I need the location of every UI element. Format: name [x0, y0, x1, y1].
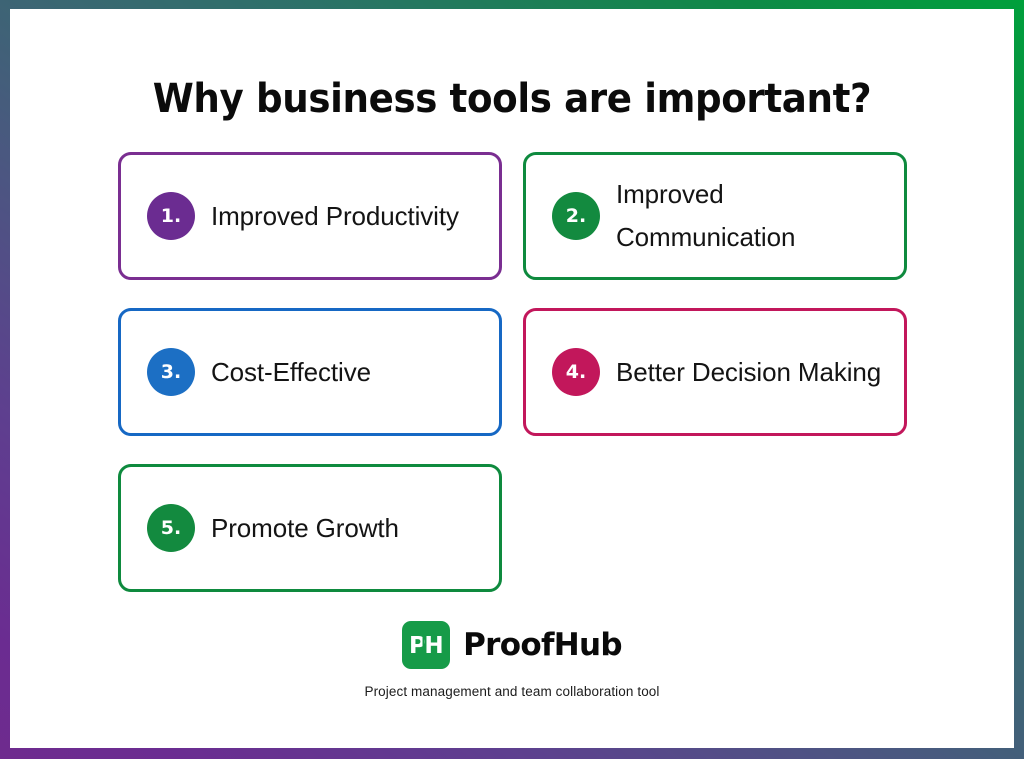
benefit-card-5[interactable]: 5. Promote Growth — [118, 464, 502, 592]
proofhub-wordmark: ProofHub — [463, 627, 622, 663]
benefit-label-5: Promote Growth — [211, 507, 399, 550]
footer-brand: PH ProofHub Project management and team … — [10, 621, 1014, 699]
benefit-label-1: Improved Productivity — [211, 195, 459, 238]
brand-tagline: Project management and team collaboratio… — [10, 684, 1014, 699]
benefits-grid: 1. Improved Productivity 2. Improved Com… — [118, 152, 908, 620]
benefit-card-1[interactable]: 1. Improved Productivity — [118, 152, 502, 280]
card-row: 3. Cost-Effective 4. Better Decision Mak… — [118, 308, 908, 436]
badge-number-4: 4. — [552, 348, 600, 396]
benefit-label-3: Cost-Effective — [211, 351, 371, 394]
benefit-card-4[interactable]: 4. Better Decision Making — [523, 308, 907, 436]
benefit-label-4: Better Decision Making — [616, 351, 881, 394]
logo-monogram-text: PH — [409, 633, 442, 658]
proofhub-logo[interactable]: PH ProofHub — [402, 621, 622, 669]
page-title: Why business tools are important? — [45, 76, 979, 122]
infographic-frame: Why business tools are important? 1. Imp… — [0, 0, 1024, 759]
benefit-label-2: Improved Communication — [616, 173, 896, 259]
badge-number-2: 2. — [552, 192, 600, 240]
badge-number-1: 1. — [147, 192, 195, 240]
proofhub-logo-icon: PH — [402, 621, 450, 669]
badge-number-5: 5. — [147, 504, 195, 552]
infographic-canvas: Why business tools are important? 1. Imp… — [10, 9, 1014, 748]
card-row: 1. Improved Productivity 2. Improved Com… — [118, 152, 908, 280]
card-row: 5. Promote Growth — [118, 464, 908, 592]
badge-number-3: 3. — [147, 348, 195, 396]
benefit-card-2[interactable]: 2. Improved Communication — [523, 152, 907, 280]
benefit-card-3[interactable]: 3. Cost-Effective — [118, 308, 502, 436]
